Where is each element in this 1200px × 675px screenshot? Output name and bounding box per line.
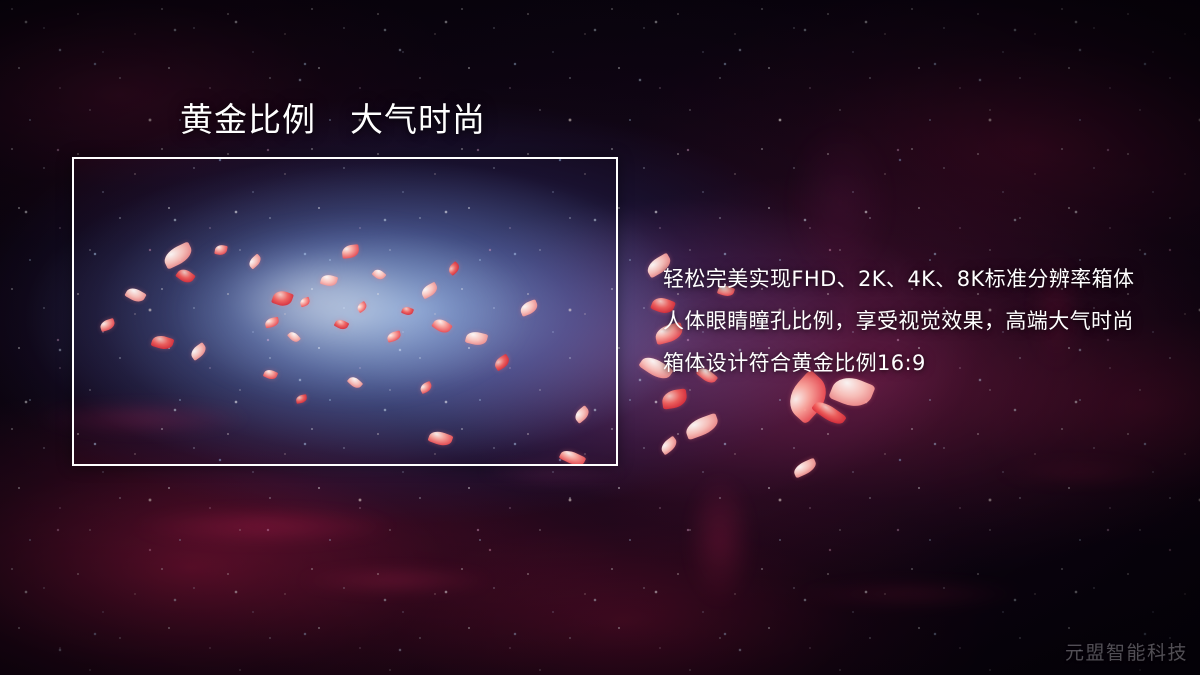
frame-nebula-background: [74, 159, 616, 464]
frame-starfield-small: [74, 159, 616, 464]
presentation-slide: 黄金比例 大气时尚 轻松完美实现FHD、2K、4K、8K标准分辨率箱体 人体眼睛…: [0, 0, 1200, 675]
body-copy-line-2: 人体眼睛瞳孔比例，享受视觉效果，高端大气时尚: [663, 300, 1183, 342]
petal: [792, 458, 819, 479]
frame-nebula-wisps: [74, 159, 616, 464]
petal: [811, 397, 847, 428]
petal: [661, 388, 688, 409]
product-photo-frame: [72, 157, 618, 466]
frame-nebula-core-glow: [74, 159, 616, 464]
frame-starfield-bright: [74, 159, 616, 464]
body-copy-line-1: 轻松完美实现FHD、2K、4K、8K标准分辨率箱体: [663, 258, 1183, 300]
watermark: 元盟智能科技: [1065, 638, 1188, 665]
petal: [659, 436, 680, 456]
photo-frame-inner: [74, 159, 616, 464]
petal: [683, 413, 721, 441]
body-copy-line-3: 箱体设计符合黄金比例16:9: [663, 342, 1183, 384]
frame-starfield-medium: [74, 159, 616, 464]
photo-frame-scene: [74, 159, 616, 464]
body-copy: 轻松完美实现FHD、2K、4K、8K标准分辨率箱体 人体眼睛瞳孔比例，享受视觉效…: [663, 258, 1183, 384]
page-title: 黄金比例 大气时尚: [180, 100, 486, 140]
